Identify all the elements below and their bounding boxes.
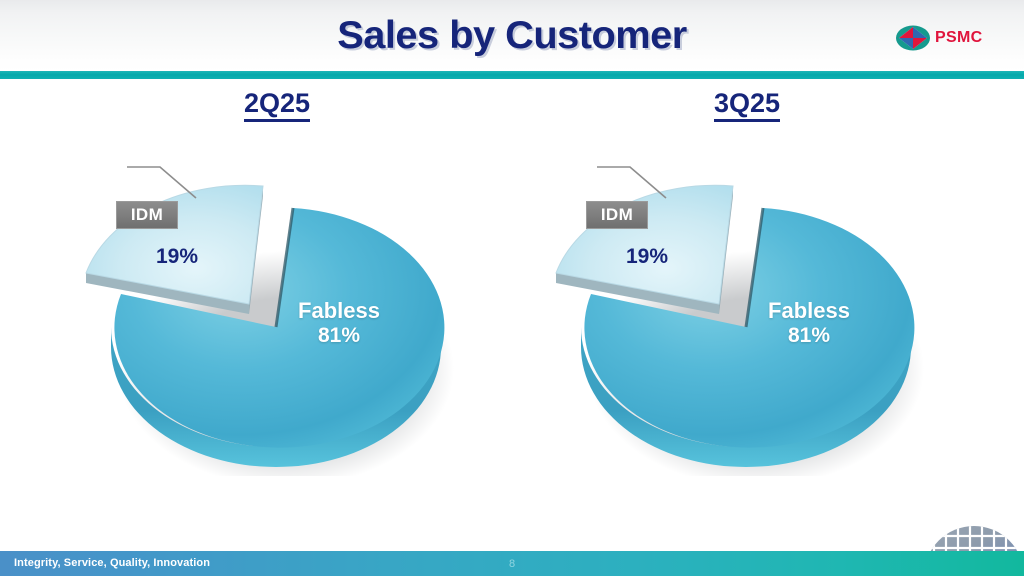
page-number: 8 — [0, 558, 1024, 570]
pie-svg-3q25 — [534, 131, 954, 476]
header-divider — [0, 71, 1024, 79]
fabless-name-2q25: Fabless — [279, 298, 399, 324]
chart-panel-3q25: 3Q25 IDM 19% Fabless 81% — [512, 79, 982, 479]
slide: Sales by Customer PSMC 2Q25 — [0, 0, 1024, 576]
psmc-logo: PSMC — [896, 23, 1014, 53]
fabless-percent-2q25: 81% — [279, 324, 399, 349]
callout-idm-label-3q25: IDM — [601, 205, 633, 225]
psmc-logo-icon — [896, 25, 930, 51]
pie-chart-3q25: IDM 19% Fabless 81% — [534, 131, 954, 476]
chart-panel-2q25: 2Q25 — [42, 79, 512, 479]
pie-chart-2q25: IDM 19% Fabless 81% — [64, 131, 484, 476]
fabless-label-3q25: Fabless 81% — [749, 298, 869, 349]
chart-title-2q25: 2Q25 — [42, 88, 512, 119]
fabless-percent-3q25: 81% — [749, 324, 869, 349]
idm-percent-3q25: 19% — [626, 245, 668, 269]
callout-idm-label-2q25: IDM — [131, 205, 163, 225]
chart-title-3q25: 3Q25 — [512, 88, 982, 119]
page-title: Sales by Customer — [0, 14, 1024, 58]
callout-idm-2q25: IDM — [116, 201, 178, 229]
fabless-label-2q25: Fabless 81% — [279, 298, 399, 349]
psmc-logo-text: PSMC — [935, 30, 982, 46]
callout-idm-3q25: IDM — [586, 201, 648, 229]
fabless-name-3q25: Fabless — [749, 298, 869, 324]
idm-percent-2q25: 19% — [156, 245, 198, 269]
pie-svg-2q25 — [64, 131, 484, 476]
